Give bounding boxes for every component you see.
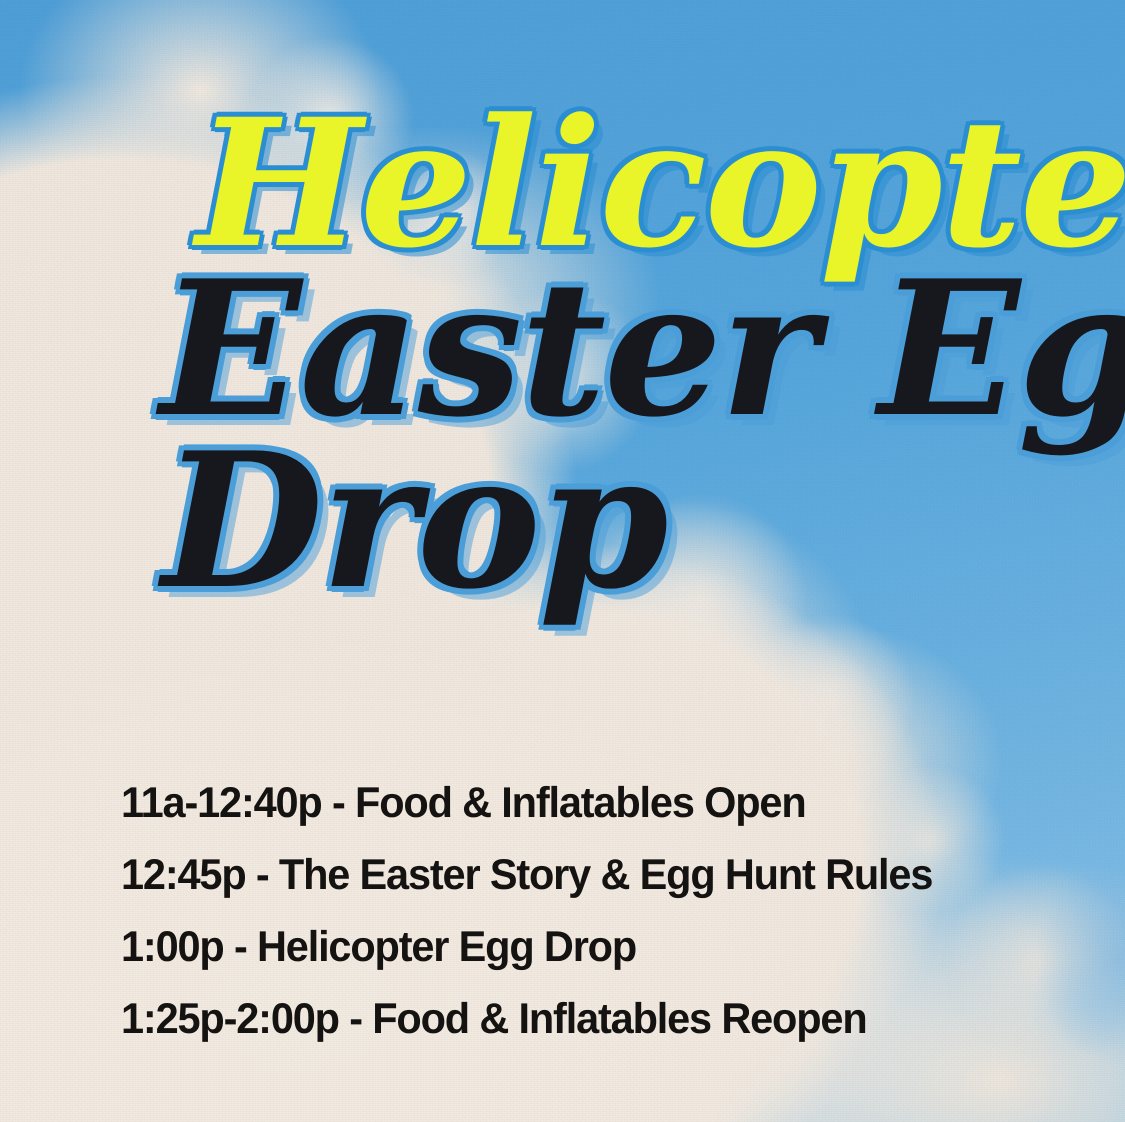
- title-line-helicopter: Helicopter: [196, 108, 1125, 259]
- schedule-item: 1:00p - Helicopter Egg Drop: [121, 926, 932, 969]
- schedule-item: 11a-12:40p - Food & Inflatables Open: [121, 782, 932, 825]
- poster-title: Helicopter Easter Egg Drop: [0, 108, 1125, 601]
- schedule-item: 12:45p - The Easter Story & Egg Hunt Rul…: [121, 854, 932, 897]
- event-schedule-list: 11a-12:40p - Food & Inflatables Open 12:…: [121, 782, 962, 1041]
- event-flyer-poster: Helicopter Easter Egg Drop 11a-12:40p - …: [0, 0, 1125, 1122]
- title-line-drop: Drop: [162, 441, 1125, 601]
- schedule-item: 1:25p-2:00p - Food & Inflatables Reopen: [121, 998, 932, 1041]
- title-line-easter-egg: Easter Egg: [160, 269, 1125, 429]
